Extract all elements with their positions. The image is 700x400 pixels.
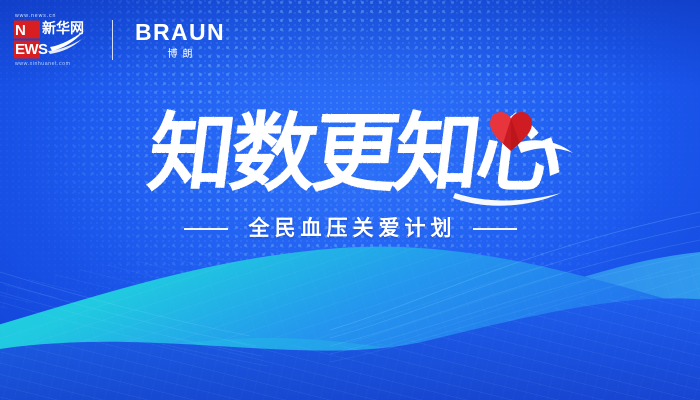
logo-divider	[112, 20, 113, 60]
heart-icon	[488, 110, 534, 152]
logo-bar: www.news.cn N EWS 新华网 www.xinhuanet.com …	[14, 12, 225, 68]
xinhua-letter-n: N	[15, 21, 41, 40]
braun-chinese-name: 博朗	[163, 49, 198, 60]
divider-line-right	[473, 228, 517, 230]
subtitle-text: 全民血压关爱计划	[244, 217, 457, 241]
subtitle-row: 全民血压关爱计划	[0, 214, 700, 244]
xinhua-letters-ews: EWS	[15, 40, 41, 59]
xinhua-news-letters: N EWS	[15, 21, 41, 59]
braun-wordmark: BRAUN	[135, 21, 225, 44]
xinhua-chinese-name: 新华网	[42, 21, 84, 36]
xinhua-news-logo[interactable]: www.news.cn N EWS 新华网 www.xinhuanet.com	[14, 12, 88, 68]
main-title: 知数更知心	[0, 96, 700, 216]
xinhua-url-bottom: www.xinhuanet.com	[15, 61, 87, 67]
braun-logo[interactable]: BRAUN 博朗	[135, 21, 225, 60]
promotional-banner: www.news.cn N EWS 新华网 www.xinhuanet.com …	[0, 0, 700, 400]
divider-line-left	[184, 228, 228, 230]
xinhua-url-top: www.news.cn	[15, 13, 87, 19]
